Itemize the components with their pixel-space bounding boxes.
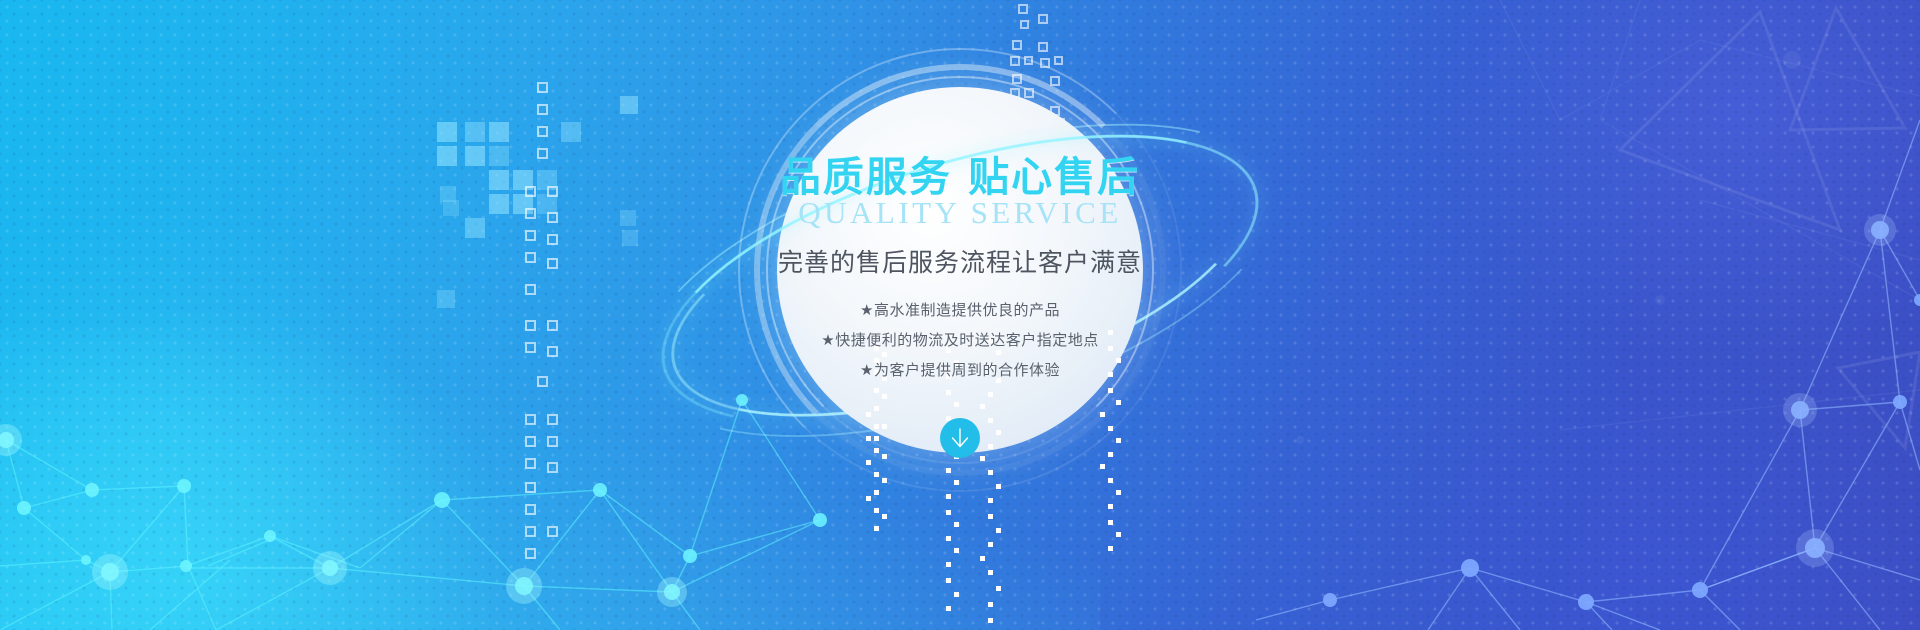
- glow-bottom-left: [0, 190, 640, 630]
- scroll-down-button[interactable]: [940, 418, 980, 458]
- glow-bottom-right: [1280, 250, 1920, 630]
- bullet-item-1: ★高水准制造提供优良的产品: [750, 295, 1170, 325]
- banner-subtitle: 完善的售后服务流程让客户满意: [750, 243, 1170, 279]
- service-banner: 品质服务 贴心售后 QUALITY SERVICE 完善的售后服务流程让客户满意…: [0, 0, 1920, 630]
- glow-top-right: [1320, 0, 1920, 460]
- bullet-item-3: ★为客户提供周到的合作体验: [750, 355, 1170, 385]
- banner-content: 品质服务 贴心售后 QUALITY SERVICE 完善的售后服务流程让客户满意…: [750, 155, 1170, 385]
- glow-left: [0, 120, 520, 630]
- bullet-item-2: ★快捷便利的物流及时送达客户指定地点: [750, 325, 1170, 355]
- banner-bullet-list: ★高水准制造提供优良的产品 ★快捷便利的物流及时送达客户指定地点 ★为客户提供周…: [750, 295, 1170, 385]
- outlined-square-column: [0, 0, 760, 630]
- banner-title-en: QUALITY SERVICE: [750, 197, 1170, 230]
- pixel-block-decor: [0, 0, 700, 630]
- arrow-down-icon: [950, 426, 970, 450]
